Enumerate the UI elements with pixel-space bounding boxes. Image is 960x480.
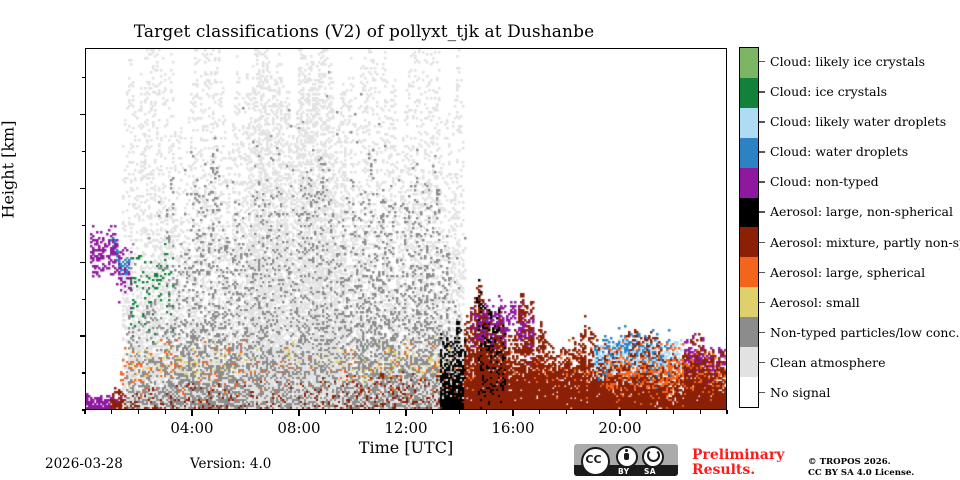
legend-label: Aerosol: mixture, partly non-spherical bbox=[770, 235, 960, 250]
x-tick-mark bbox=[405, 410, 406, 416]
x-minor-tick bbox=[646, 410, 647, 414]
legend-tick bbox=[759, 181, 765, 182]
x-minor-tick bbox=[325, 410, 326, 414]
legend-label: No signal bbox=[770, 385, 830, 400]
legend-tick bbox=[759, 151, 765, 152]
x-minor-tick bbox=[352, 410, 353, 414]
x-minor-tick bbox=[486, 410, 487, 414]
colorbar-segment bbox=[740, 257, 758, 287]
x-tick-label: 04:00 bbox=[152, 421, 232, 436]
legend-tick bbox=[759, 91, 765, 92]
colorbar-segment bbox=[740, 48, 758, 78]
x-tick-mark bbox=[619, 410, 620, 416]
x-tick-label: 16:00 bbox=[473, 421, 553, 436]
legend-tick bbox=[759, 242, 765, 243]
legend-label: Cloud: likely ice crystals bbox=[770, 54, 925, 69]
x-tick-label: 12:00 bbox=[366, 421, 446, 436]
colorbar-segment bbox=[740, 198, 758, 228]
x-tick-mark bbox=[191, 410, 192, 416]
preliminary-results-note: Preliminary Results. bbox=[692, 448, 802, 478]
legend-label: Cloud: ice crystals bbox=[770, 84, 887, 99]
legend-tick bbox=[759, 121, 765, 122]
x-minor-tick bbox=[566, 410, 567, 414]
colorbar-segment bbox=[740, 108, 758, 138]
badge-by-label: BY bbox=[618, 467, 629, 476]
x-minor-tick bbox=[593, 410, 594, 414]
colorbar-segment bbox=[740, 347, 758, 377]
legend-label: Aerosol: large, non-spherical bbox=[770, 204, 953, 219]
x-minor-tick bbox=[272, 410, 273, 414]
figure-root: Target classifications (V2) of pollyxt_t… bbox=[0, 0, 960, 480]
legend-label: Cloud: non-typed bbox=[770, 174, 879, 189]
x-minor-tick bbox=[84, 410, 85, 414]
footer-version: Version: 4.0 bbox=[190, 456, 271, 472]
x-tick-label: 20:00 bbox=[580, 421, 660, 436]
colorbar-segment bbox=[740, 138, 758, 168]
x-minor-tick bbox=[726, 410, 727, 414]
cc-icon-text: CC bbox=[581, 453, 606, 466]
y-axis-label: Height [km] bbox=[0, 10, 18, 330]
legend-tick bbox=[759, 211, 765, 212]
copyright-line-2: CC BY SA 4.0 License. bbox=[808, 468, 914, 479]
footer-date: 2026-03-28 bbox=[45, 456, 123, 472]
legend-tick bbox=[759, 272, 765, 273]
preliminary-line-1: Preliminary bbox=[692, 448, 802, 463]
legend-tick bbox=[759, 332, 765, 333]
x-minor-tick bbox=[245, 410, 246, 414]
sa-icon-glyph bbox=[647, 449, 660, 462]
legend-tick bbox=[759, 392, 765, 393]
copyright-line-1: © TROPOS 2026. bbox=[808, 457, 914, 468]
cc-license-badge[interactable]: CC BY SA bbox=[574, 444, 678, 476]
by-icon-glyph bbox=[624, 449, 630, 460]
legend-label: Cloud: water droplets bbox=[770, 144, 908, 159]
legend-label: Aerosol: large, spherical bbox=[770, 265, 925, 280]
legend-tick bbox=[759, 61, 765, 62]
colorbar-segment bbox=[740, 78, 758, 108]
x-minor-tick bbox=[111, 410, 112, 414]
colorbar-segment bbox=[740, 227, 758, 257]
preliminary-line-2: Results. bbox=[692, 463, 802, 478]
x-minor-tick bbox=[138, 410, 139, 414]
x-minor-tick bbox=[165, 410, 166, 414]
x-minor-tick bbox=[218, 410, 219, 414]
x-minor-tick bbox=[700, 410, 701, 414]
x-minor-tick bbox=[459, 410, 460, 414]
x-minor-tick bbox=[673, 410, 674, 414]
colorbar-segment bbox=[740, 287, 758, 317]
legend-label: Cloud: likely water droplets bbox=[770, 114, 946, 129]
legend-tick bbox=[759, 362, 765, 363]
legend-label: Non-typed particles/low conc. bbox=[770, 325, 959, 340]
x-minor-tick bbox=[432, 410, 433, 414]
x-tick-label: 08:00 bbox=[259, 421, 339, 436]
legend-label: Aerosol: small bbox=[770, 295, 860, 310]
copyright-note: © TROPOS 2026. CC BY SA 4.0 License. bbox=[808, 457, 914, 479]
colorbar-segment bbox=[740, 377, 758, 407]
badge-sa-label: SA bbox=[644, 467, 656, 476]
x-minor-tick bbox=[379, 410, 380, 414]
x-tick-mark bbox=[298, 410, 299, 416]
colorbar-segment bbox=[740, 168, 758, 198]
colorbar bbox=[739, 47, 759, 408]
x-tick-mark bbox=[512, 410, 513, 416]
x-minor-tick bbox=[539, 410, 540, 414]
legend-label: Clean atmosphere bbox=[770, 355, 886, 370]
colorbar-segment bbox=[740, 317, 758, 347]
legend-tick bbox=[759, 302, 765, 303]
